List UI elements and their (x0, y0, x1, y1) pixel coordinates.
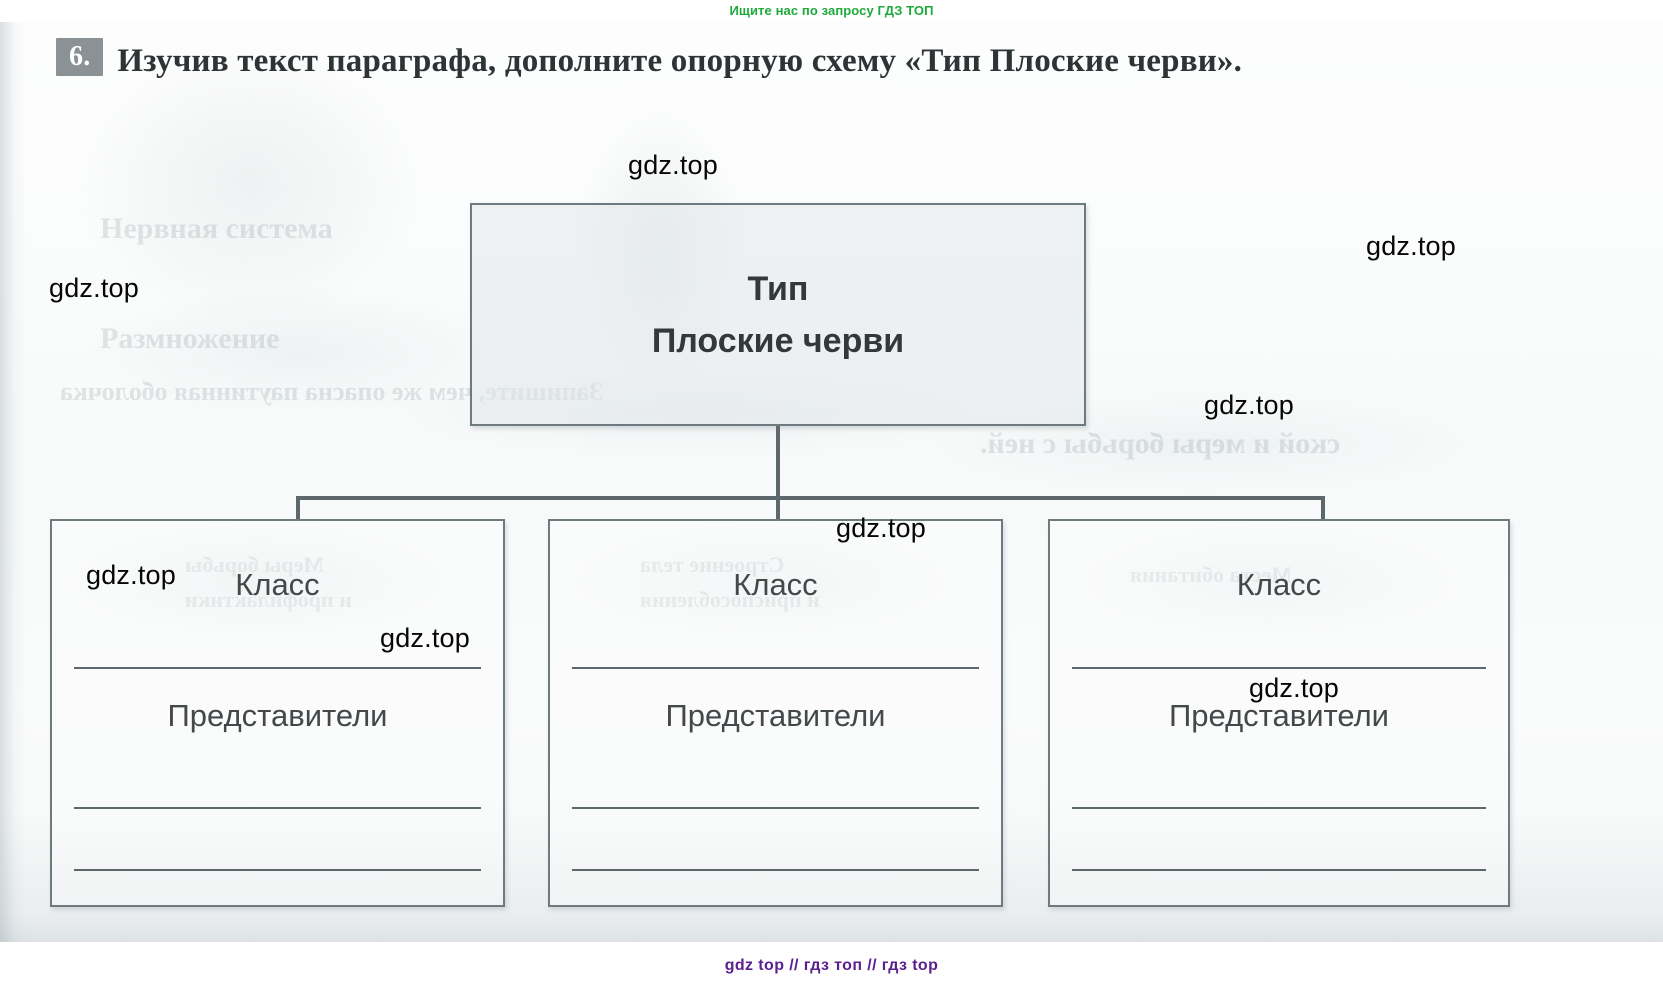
promo-banner: Ищите нас по запросу ГДЗ ТОП (0, 0, 1663, 22)
page-root: Ищите нас по запросу ГДЗ ТОП Нервная сис… (0, 0, 1663, 989)
watermark-gdz-top: gdz.top (49, 273, 139, 304)
class-node-2[interactable]: Класс Представители (548, 519, 1003, 907)
answer-line-1-3[interactable] (74, 869, 481, 871)
root-node-title: Тип Плоские черви (652, 263, 904, 367)
representatives-label-2: Представители (550, 698, 1001, 734)
class-node-3[interactable]: Класс Представители (1048, 519, 1510, 907)
watermark-gdz-top: gdz.top (86, 560, 176, 591)
connector-drop-left (296, 496, 300, 521)
answer-line-1-2[interactable] (74, 807, 481, 809)
support-scheme-diagram: Тип Плоские черви Класс Представители Кл… (0, 22, 1663, 942)
class-label-3: Класс (1050, 567, 1508, 603)
scanned-worksheet: Нервная системаРазмножениеЗапишите, чем … (0, 22, 1663, 942)
connector-drop-middle (776, 496, 780, 521)
class-label-2: Класс (550, 567, 1001, 603)
task-number-badge: 6. (56, 38, 103, 76)
watermark-gdz-top: gdz.top (1249, 673, 1339, 704)
watermark-gdz-top: gdz.top (380, 623, 470, 654)
watermark-gdz-top: gdz.top (836, 513, 926, 544)
answer-line-2-3[interactable] (572, 869, 979, 871)
connector-bus (296, 496, 1325, 500)
answer-line-3-1[interactable] (1072, 667, 1486, 669)
connector-drop-right (1321, 496, 1325, 521)
footer-watermark: gdz top // гдз топ // гдз top (0, 942, 1663, 989)
root-node-type: Тип Плоские черви (470, 203, 1086, 426)
answer-line-3-2[interactable] (1072, 807, 1486, 809)
answer-line-2-1[interactable] (572, 667, 979, 669)
task-heading: 6.Изучив текст параграфа, дополните опор… (56, 36, 1586, 86)
watermark-gdz-top: gdz.top (628, 150, 718, 181)
connector-trunk (776, 426, 780, 500)
task-instruction-text: Изучив текст параграфа, дополните опорну… (117, 43, 1242, 79)
answer-line-3-3[interactable] (1072, 869, 1486, 871)
watermark-gdz-top: gdz.top (1366, 231, 1456, 262)
representatives-label-1: Представители (52, 698, 503, 734)
answer-line-2-2[interactable] (572, 807, 979, 809)
watermark-gdz-top: gdz.top (1204, 390, 1294, 421)
answer-line-1-1[interactable] (74, 667, 481, 669)
